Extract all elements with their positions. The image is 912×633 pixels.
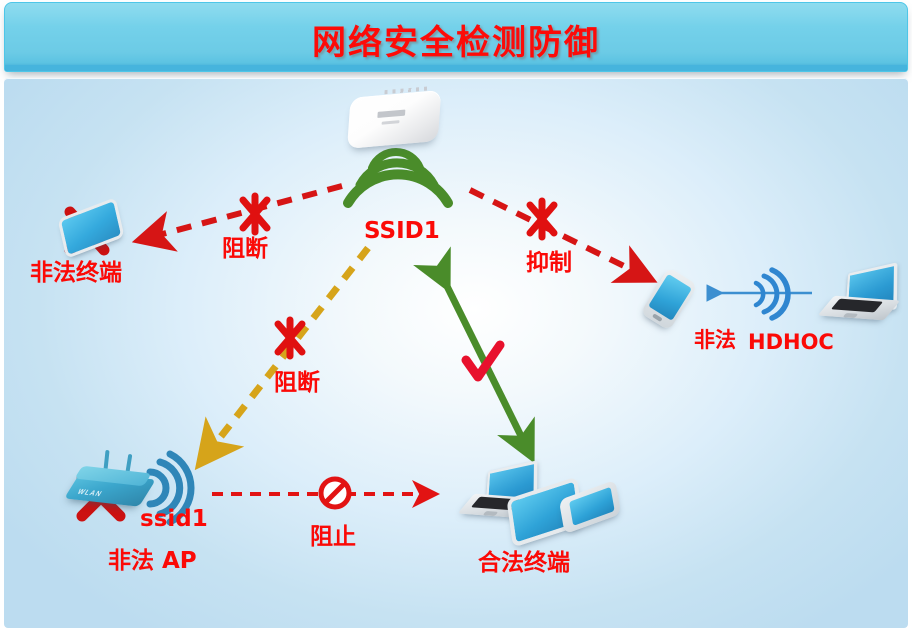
illegal-adhoc-label-cn: 非法	[694, 330, 736, 351]
illegal-adhoc-label-en: HDHOC	[748, 332, 834, 353]
title-bar: 网络安全检测防御	[4, 2, 908, 72]
tablet-icon-illegal	[56, 204, 120, 248]
diagram-canvas: 网络安全检测防御	[0, 0, 912, 633]
smartphone-icon-illegal	[646, 270, 700, 326]
ap-ssid-label: SSID1	[364, 220, 440, 243]
rogue-ap-label: 非法 AP	[108, 550, 197, 573]
smartphone-icon-legit	[560, 490, 620, 542]
link-label-suppress: 抑制	[526, 252, 572, 275]
legit-terminals-label: 合法终端	[478, 552, 570, 575]
link-label-block-rogue: 阻断	[274, 372, 320, 395]
laptop-icon-attacker	[822, 268, 900, 324]
link-label-prevent: 阻止	[310, 526, 356, 549]
page-title: 网络安全检测防御	[5, 15, 907, 64]
rogue-ap-ssid-label: ssid1	[140, 508, 208, 531]
illegal-terminal-label: 非法终端	[30, 262, 122, 285]
link-label-block-terminal: 阻断	[222, 238, 268, 261]
